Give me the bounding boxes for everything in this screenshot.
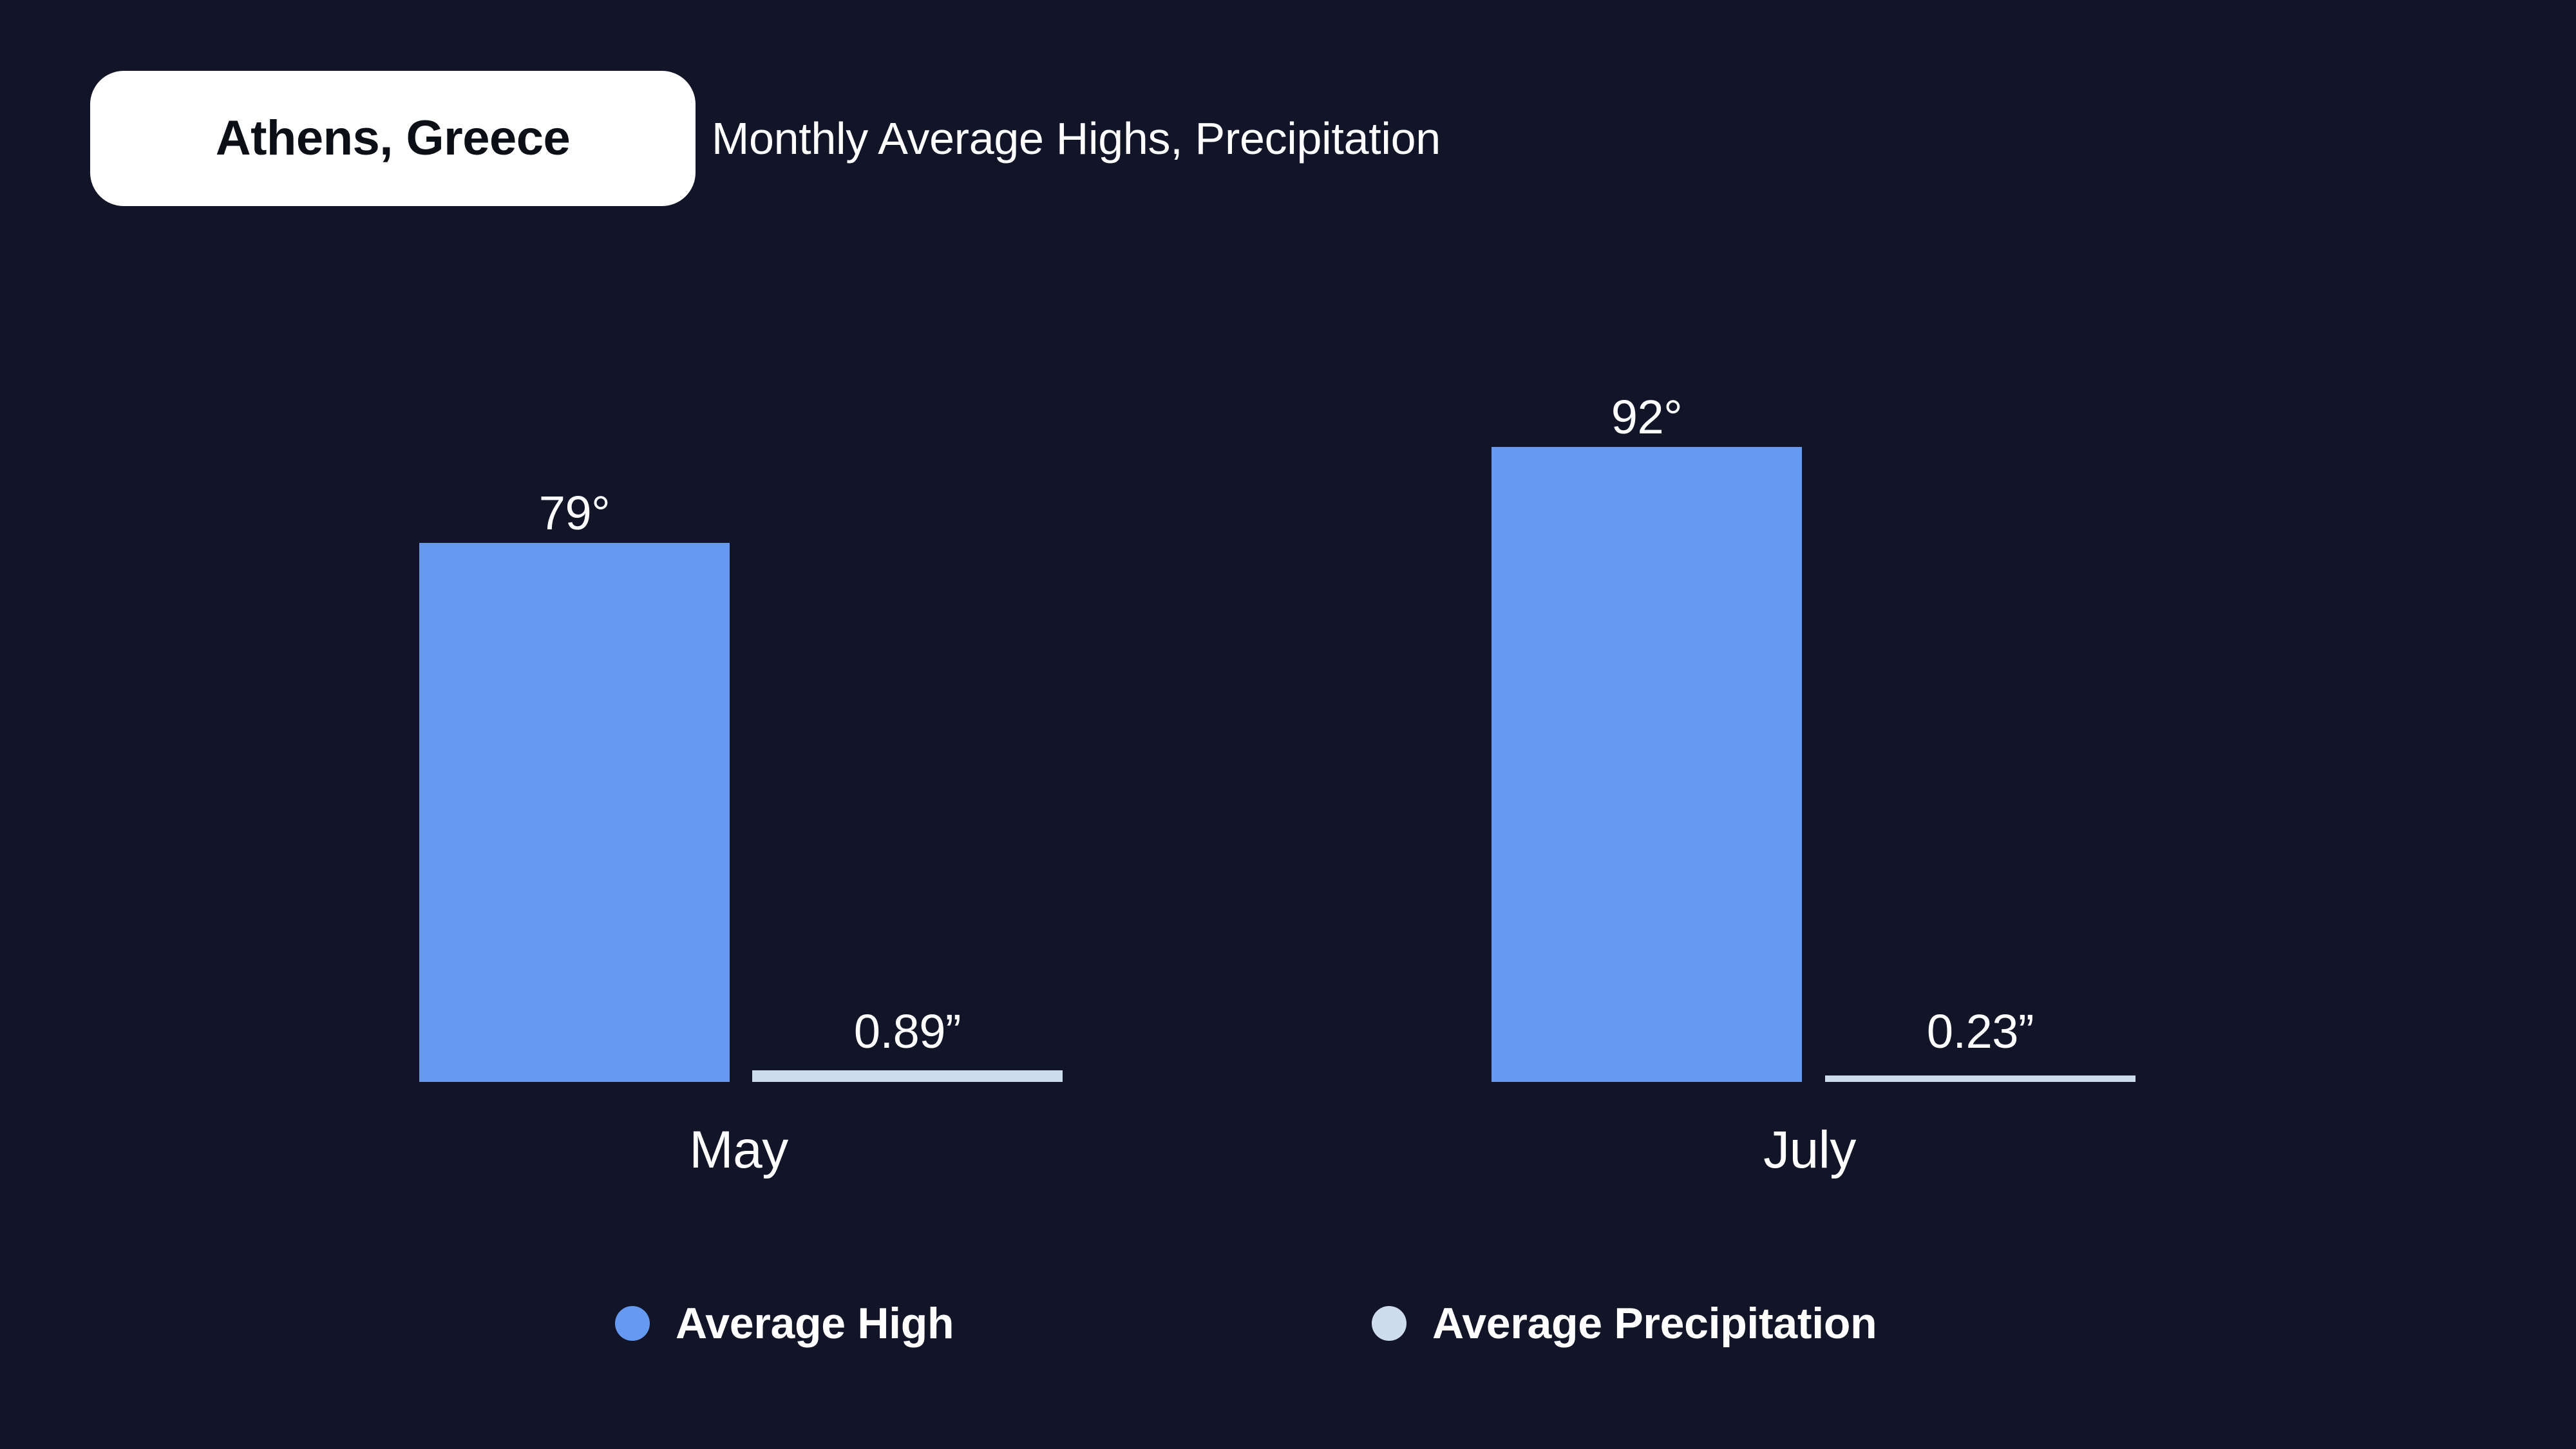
legend-swatch-icon-average-high [615, 1306, 650, 1341]
temp-bar-july[interactable] [1492, 447, 1802, 1082]
precip-value-label-may: 0.89” [752, 1008, 1063, 1056]
precip-value-label-july: 0.23” [1825, 1008, 2136, 1056]
chart-legend: Average High Average Precipitation [0, 1278, 2576, 1368]
legend-swatch-icon-average-precipitation [1372, 1306, 1406, 1341]
bar-chart-plot: 79° 0.89” May 92° 0.23” July [0, 0, 2576, 1449]
legend-item-average-high[interactable]: Average High [615, 1278, 954, 1368]
legend-label-average-high: Average High [676, 1302, 954, 1345]
legend-item-average-precipitation[interactable]: Average Precipitation [1372, 1278, 1877, 1368]
temp-value-label-may: 79° [419, 489, 730, 537]
precip-bar-july[interactable] [1825, 1075, 2136, 1082]
category-label-may: May [583, 1124, 894, 1177]
temp-value-label-july: 92° [1492, 393, 1802, 441]
temp-bar-may[interactable] [419, 543, 730, 1082]
precip-bar-may[interactable] [752, 1070, 1063, 1082]
legend-label-average-precipitation: Average Precipitation [1432, 1302, 1877, 1345]
category-label-july: July [1654, 1124, 1965, 1177]
